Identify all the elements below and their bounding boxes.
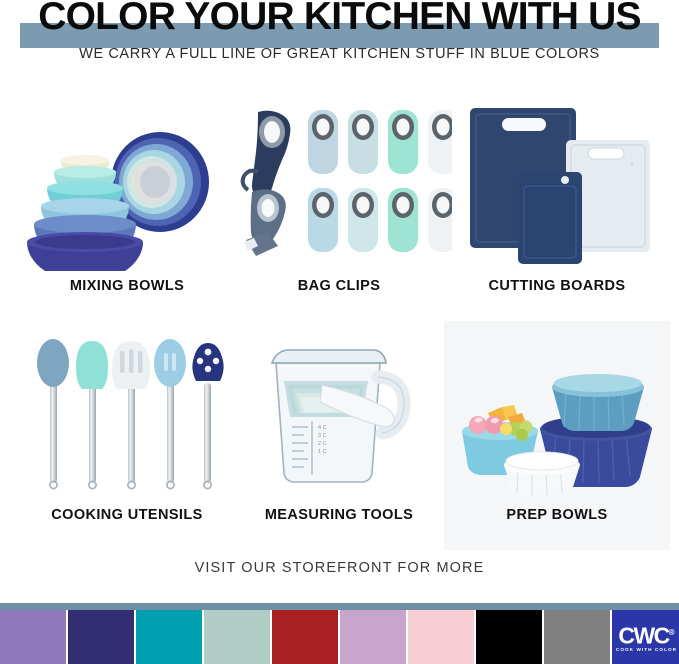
product-cell-mixing-bowls[interactable]: MIXING BOWLS [14, 92, 240, 321]
palette-swatch-gray [544, 610, 610, 664]
color-palette: CWC®COOK WITH COLOR [0, 610, 679, 664]
page-title: COLOR YOUR KITCHEN WITH US [0, 0, 679, 40]
svg-text:4 C: 4 C [318, 425, 327, 431]
palette-swatch-pink [408, 610, 474, 664]
storefront-note: VISIT OUR STOREFRONT FOR MORE [0, 560, 679, 576]
measuring-tools-image: 4 C 3 C 2 C 1 C [226, 325, 452, 500]
product-caption: PREP BOWLS [444, 507, 670, 523]
palette-swatch-black [476, 610, 542, 664]
svg-text:1 C: 1 C [318, 449, 327, 455]
header: COLOR YOUR KITCHEN WITH US WE CARRY A FU… [0, 0, 679, 84]
page-subtitle: WE CARRY A FULL LINE OF GREAT KITCHEN ST… [0, 46, 679, 62]
product-cell-cutting-boards[interactable]: CUTTING BOARDS [444, 92, 670, 321]
brand-logo[interactable]: CWC®COOK WITH COLOR [612, 610, 679, 664]
palette-swatch-lilac [340, 610, 406, 664]
logo-mark: CWC® [618, 622, 674, 647]
logo-tagline: COOK WITH COLOR [616, 647, 677, 652]
product-caption: MEASURING TOOLS [226, 507, 452, 523]
palette-swatch-indigo [68, 610, 134, 664]
cutting-boards-image [444, 96, 670, 271]
product-cell-measuring-tools[interactable]: 4 C 3 C 2 C 1 C MEASURING TOOLS [226, 321, 452, 550]
mixing-bowls-image [14, 96, 240, 271]
product-caption: MIXING BOWLS [14, 278, 240, 294]
palette-swatch-teal [136, 610, 202, 664]
prep-bowls-image [444, 325, 670, 500]
palette-swatch-red [272, 610, 338, 664]
product-caption: BAG CLIPS [226, 278, 452, 294]
svg-text:3 C: 3 C [318, 433, 327, 439]
product-cell-cooking-utensils[interactable]: COOKING UTENSILS [14, 321, 240, 550]
product-cell-prep-bowls[interactable]: PREP BOWLS [444, 321, 670, 550]
svg-text:2 C: 2 C [318, 441, 327, 447]
bag-clips-image [226, 96, 452, 271]
product-caption: COOKING UTENSILS [14, 507, 240, 523]
product-caption: CUTTING BOARDS [444, 278, 670, 294]
product-cell-bag-clips[interactable]: BAG CLIPS [226, 92, 452, 321]
palette-swatch-purple [0, 610, 66, 664]
cooking-utensils-image [14, 325, 240, 500]
palette-swatch-sage [204, 610, 270, 664]
product-grid: MIXING BOWLS [0, 92, 679, 550]
